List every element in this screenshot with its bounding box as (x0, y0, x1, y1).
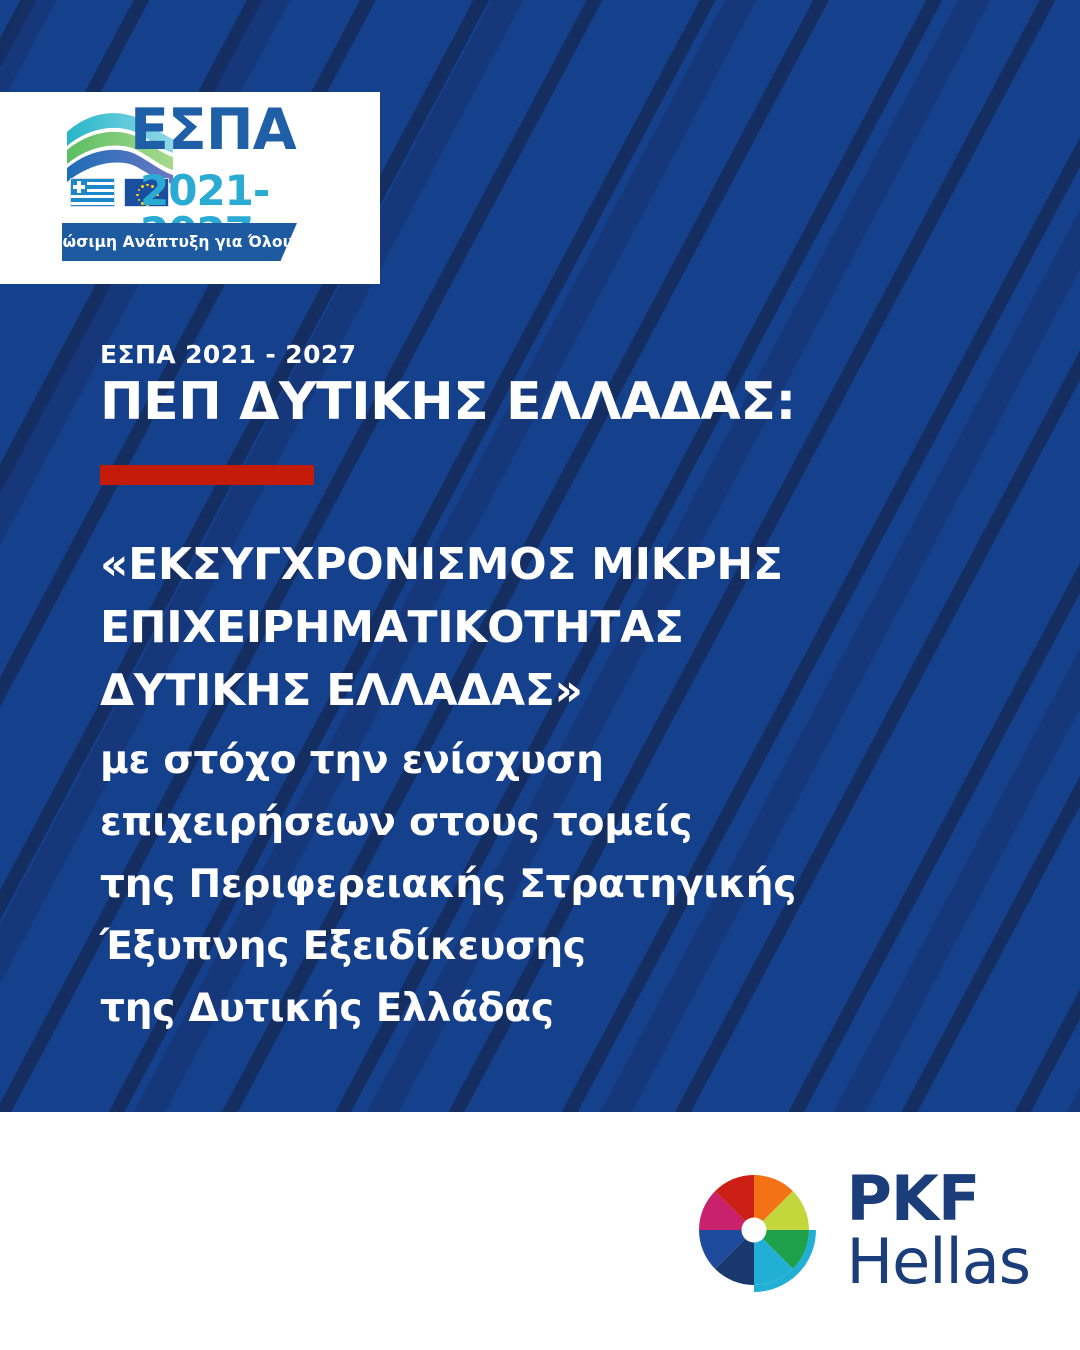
pkf-brand-line2: Hellas (846, 1230, 1030, 1293)
subtitle-line: επιχειρήσεων στους τομείς (100, 792, 980, 854)
espa-tagline-text: Βιώσιμη Ανάπτυξη για Όλους (45, 233, 315, 251)
espa-logo-card: ΕΣΠΑ (0, 92, 380, 284)
poster-root: ΕΣΠΑ (0, 0, 1080, 1350)
program-line: ΔΥΤΙΚΗΣ ΕΛΛΑΔΑΣ» (100, 659, 980, 722)
footer-bar: PKF Hellas (0, 1112, 1080, 1350)
body-copy: «ΕΚΣΥΓΧΡΟΝΙΣΜΟΣ ΜΙΚΡΗΣ ΕΠΙΧΕΙΡΗΜΑΤΙΚΟΤΗΤ… (100, 533, 980, 1040)
subtitle-line: της Περιφερειακής Στρατηγικής (100, 854, 980, 916)
pkf-pinwheel-icon (688, 1164, 820, 1296)
subtitle-line: της Δυτικής Ελλάδας (100, 978, 980, 1040)
espa-tagline-banner: Βιώσιμη Ανάπτυξη για Όλους (62, 223, 297, 261)
pkf-logo: PKF Hellas (688, 1164, 1030, 1296)
espa-wordmark: ΕΣΠΑ (130, 102, 296, 159)
pkf-brand-line1: PKF (846, 1167, 1030, 1230)
subtitle-line: με στόχο την ενίσχυση (100, 722, 980, 792)
kicker-label: ΕΣΠΑ 2021 - 2027 (100, 340, 356, 369)
subtitle-line: Έξυπνης Εξειδίκευσης (100, 916, 980, 978)
pkf-wordmark: PKF Hellas (846, 1167, 1030, 1293)
program-line: ΕΠΙΧΕΙΡΗΜΑΤΙΚΟΤΗΤΑΣ (100, 596, 980, 659)
red-accent-rule (100, 465, 314, 485)
page-title: ΠΕΠ ΔΥΤΙΚΗΣ ΕΛΛΑΔΑΣ: (100, 372, 796, 432)
program-line: «ΕΚΣΥΓΧΡΟΝΙΣΜΟΣ ΜΙΚΡΗΣ (100, 533, 980, 596)
greek-flag-icon (70, 178, 115, 207)
